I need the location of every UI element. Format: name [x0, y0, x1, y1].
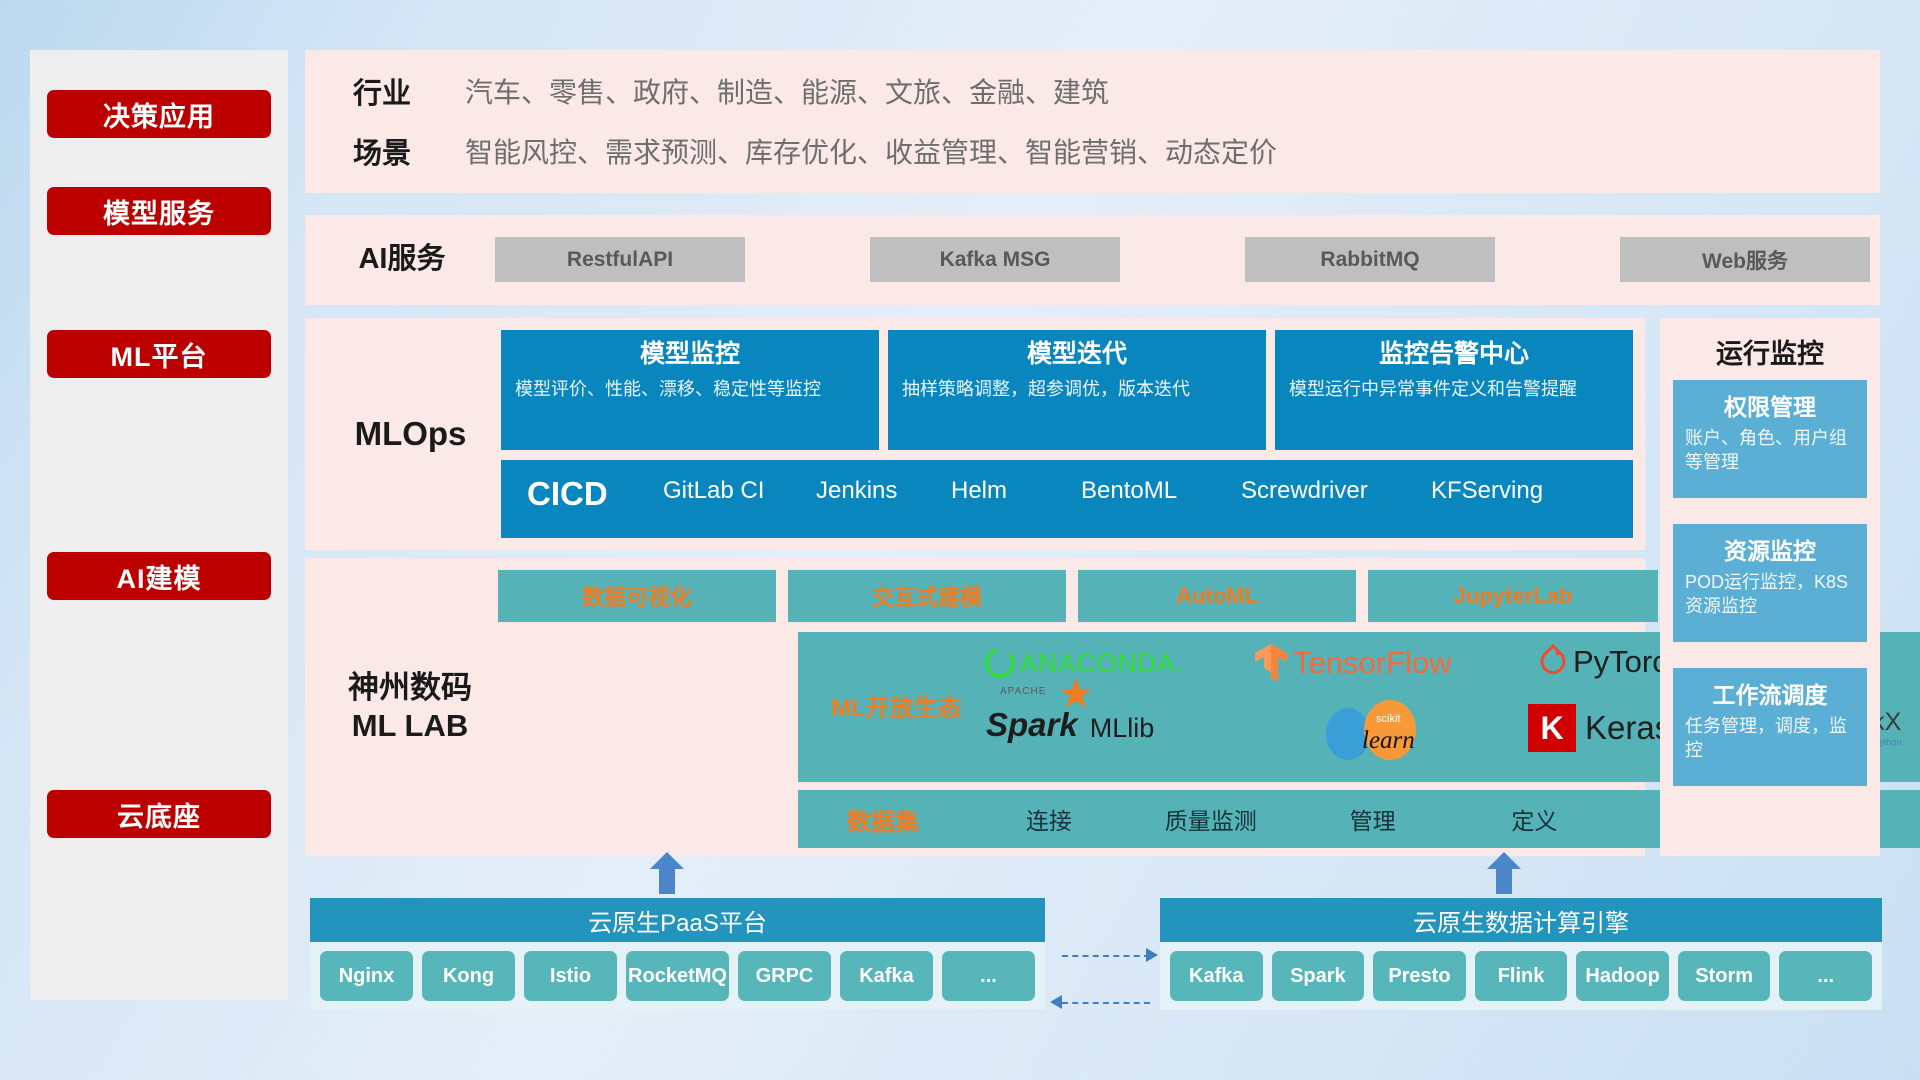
- spark-mllib-logo: APACHE Spark MLlib: [986, 706, 1154, 744]
- paas-chip-nginx[interactable]: Nginx: [320, 951, 413, 1001]
- svg-text:scikit: scikit: [1376, 713, 1400, 725]
- ai-service-band: AI服务 RestfulAPI Kafka MSG RabbitMQ Web服务: [305, 215, 1880, 305]
- paas-chip-kafka[interactable]: Kafka: [840, 951, 933, 1001]
- tool-chip-label: AutoML: [1176, 583, 1258, 609]
- ml-lab-line2: ML LAB: [352, 707, 469, 745]
- scenario-label: 场景: [327, 130, 437, 172]
- engine-title: 云原生数据计算引擎: [1160, 898, 1882, 942]
- paas-chip-more[interactable]: ...: [942, 951, 1035, 1001]
- cicd-bar: CICD GitLab CI Jenkins Helm BentoML Scre…: [501, 460, 1633, 538]
- rail-label: 云底座: [117, 795, 201, 834]
- monitor-card-resource[interactable]: 资源监控 POD运行监控，K8S资源监控: [1673, 524, 1867, 642]
- scikit-learn-logo: scikit learn: [1318, 700, 1448, 767]
- card-desc: 模型运行中异常事件定义和告警提醒: [1289, 377, 1619, 401]
- monitor-card-permission[interactable]: 权限管理 账户、角色、用户组等管理: [1673, 380, 1867, 498]
- mlops-card-model-iteration[interactable]: 模型迭代 抽样策略调整，超参调优，版本迭代: [888, 330, 1266, 450]
- card-title: 监控告警中心: [1289, 339, 1619, 370]
- cicd-item-kfserving[interactable]: KFServing: [1431, 478, 1559, 505]
- industry-value: 汽车、零售、政府、制造、能源、文旅、金融、建筑: [465, 71, 1109, 111]
- card-desc: 抽样策略调整，超参调优，版本迭代: [902, 377, 1252, 401]
- paas-chip-rocketmq[interactable]: RocketMQ: [626, 951, 729, 1001]
- dataset-label: 数据集: [798, 802, 968, 837]
- card-desc: POD运行监控，K8S资源监控: [1685, 571, 1855, 619]
- tensorflow-logo: TensorFlow: [1253, 642, 1452, 684]
- paas-title: 云原生PaaS平台: [310, 898, 1045, 942]
- mlops-card-model-monitoring[interactable]: 模型监控 模型评价、性能、漂移、稳定性等监控: [501, 330, 879, 450]
- runtime-monitor-band: 运行监控 权限管理 账户、角色、用户组等管理 资源监控 POD运行监控，K8S资…: [1660, 318, 1880, 856]
- svg-text:learn: learn: [1362, 727, 1415, 754]
- engine-chip-storm[interactable]: Storm: [1678, 951, 1771, 1001]
- mlops-band: MLOps 模型监控 模型评价、性能、漂移、稳定性等监控 模型迭代 抽样策略调整…: [305, 318, 1645, 550]
- service-chip-restfulapi[interactable]: RestfulAPI: [495, 237, 745, 282]
- rail-item-ai-modeling[interactable]: AI建模: [47, 552, 271, 600]
- industry-label: 行业: [327, 70, 437, 112]
- rail-label: AI建模: [117, 557, 202, 596]
- runtime-monitor-title: 运行监控: [1660, 332, 1880, 371]
- anaconda-logo: ANACONDA.: [983, 646, 1184, 680]
- tool-chip-data-visualization[interactable]: 数据可视化: [498, 570, 776, 622]
- rail-item-ml-platform[interactable]: ML平台: [47, 330, 271, 378]
- left-rail: 决策应用 模型服务 ML平台 AI建模 云底座: [30, 50, 288, 1000]
- service-chip-web-service[interactable]: Web服务: [1620, 237, 1870, 282]
- dataset-item-manage[interactable]: 管理: [1292, 802, 1454, 836]
- engine-group: 云原生数据计算引擎 Kafka Spark Presto Flink Hadoo…: [1160, 898, 1882, 1010]
- engine-chip-hadoop[interactable]: Hadoop: [1576, 951, 1669, 1001]
- paas-chip-kong[interactable]: Kong: [422, 951, 515, 1001]
- service-chip-label: Kafka MSG: [940, 248, 1051, 272]
- ml-ecosystem-label: ML开放生态: [831, 688, 962, 723]
- rail-item-cloud-base[interactable]: 云底座: [47, 790, 271, 838]
- monitor-card-workflow[interactable]: 工作流调度 任务管理，调度，监控: [1673, 668, 1867, 786]
- service-chip-label: RestfulAPI: [567, 248, 673, 272]
- tool-chip-label: 数据可视化: [582, 580, 692, 612]
- connector-right-dashed: [1062, 955, 1150, 957]
- engine-chip-more[interactable]: ...: [1779, 951, 1872, 1001]
- rail-item-decision-apps[interactable]: 决策应用: [47, 90, 271, 138]
- card-title: 工作流调度: [1685, 676, 1855, 710]
- engine-chip-spark[interactable]: Spark: [1272, 951, 1365, 1001]
- applications-band: 行业 汽车、零售、政府、制造、能源、文旅、金融、建筑 场景 智能风控、需求预测、…: [305, 50, 1880, 193]
- card-desc: 任务管理，调度，监控: [1685, 715, 1855, 763]
- scenario-value: 智能风控、需求预测、库存优化、收益管理、智能营销、动态定价: [465, 131, 1277, 171]
- engine-chip-flink[interactable]: Flink: [1475, 951, 1568, 1001]
- ml-lab-line1: 神州数码: [348, 669, 472, 707]
- cicd-item-bentoml[interactable]: BentoML: [1081, 478, 1209, 505]
- rail-label: 决策应用: [103, 95, 215, 134]
- up-arrow-engine-icon: [1483, 852, 1525, 894]
- tool-chip-label: JupyterLab: [1454, 583, 1573, 609]
- paas-chip-istio[interactable]: Istio: [524, 951, 617, 1001]
- connector-arrow-right-icon: [1146, 948, 1158, 962]
- rail-item-model-service[interactable]: 模型服务: [47, 187, 271, 235]
- mlops-card-alert-center[interactable]: 监控告警中心 模型运行中异常事件定义和告警提醒: [1275, 330, 1633, 450]
- service-chip-label: Web服务: [1702, 245, 1788, 275]
- card-desc: 账户、角色、用户组等管理: [1685, 427, 1855, 475]
- ml-lab-label: 神州数码 ML LAB: [317, 558, 503, 856]
- tool-chip-interactive-modeling[interactable]: 交互式建模: [788, 570, 1066, 622]
- card-desc: 模型评价、性能、漂移、稳定性等监控: [515, 377, 865, 401]
- service-chip-kafka-msg[interactable]: Kafka MSG: [870, 237, 1120, 282]
- connector-arrow-left-icon: [1050, 995, 1062, 1009]
- card-title: 模型监控: [515, 339, 865, 370]
- architecture-diagram: 决策应用 模型服务 ML平台 AI建模 云底座 行业 汽车、零售、政府、制造、能…: [0, 0, 1920, 1080]
- ai-service-label: AI服务: [327, 215, 477, 305]
- keras-logo: K Keras: [1528, 704, 1671, 752]
- service-chip-rabbitmq[interactable]: RabbitMQ: [1245, 237, 1495, 282]
- up-arrow-paas-icon: [646, 852, 688, 894]
- dataset-item-define[interactable]: 定义: [1453, 802, 1615, 836]
- engine-chip-presto[interactable]: Presto: [1373, 951, 1466, 1001]
- paas-chips: Nginx Kong Istio RocketMQ GRPC Kafka ...: [310, 942, 1045, 1010]
- paas-group: 云原生PaaS平台 Nginx Kong Istio RocketMQ GRPC…: [310, 898, 1045, 1010]
- dataset-item-quality[interactable]: 质量监测: [1130, 802, 1292, 836]
- mlops-label: MLOps: [323, 318, 498, 550]
- ai-modeling-band: 神州数码 ML LAB 数据可视化 交互式建模 AutoML JupyterLa…: [305, 558, 1645, 856]
- tool-chip-label: 交互式建模: [872, 580, 982, 612]
- paas-chip-grpc[interactable]: GRPC: [738, 951, 831, 1001]
- tool-chip-jupyterlab[interactable]: JupyterLab: [1368, 570, 1658, 622]
- engine-chip-kafka[interactable]: Kafka: [1170, 951, 1263, 1001]
- dataset-item-connect[interactable]: 连接: [968, 802, 1130, 836]
- engine-chips: Kafka Spark Presto Flink Hadoop Storm ..…: [1160, 942, 1882, 1010]
- rail-label: 模型服务: [103, 192, 215, 231]
- rail-label: ML平台: [111, 335, 208, 374]
- card-title: 权限管理: [1685, 388, 1855, 422]
- connector-left-dashed: [1062, 1002, 1150, 1004]
- cicd-item-screwdriver[interactable]: Screwdriver: [1241, 478, 1369, 505]
- service-chip-label: RabbitMQ: [1320, 248, 1419, 272]
- card-title: 资源监控: [1685, 532, 1855, 566]
- cicd-item-helm[interactable]: Helm: [951, 478, 1079, 505]
- cicd-item-jenkins[interactable]: Jenkins: [816, 478, 944, 505]
- card-title: 模型迭代: [902, 339, 1252, 370]
- tool-chip-automl[interactable]: AutoML: [1078, 570, 1356, 622]
- cicd-title: CICD: [527, 475, 608, 513]
- cicd-item-gitlab-ci[interactable]: GitLab CI: [663, 478, 791, 505]
